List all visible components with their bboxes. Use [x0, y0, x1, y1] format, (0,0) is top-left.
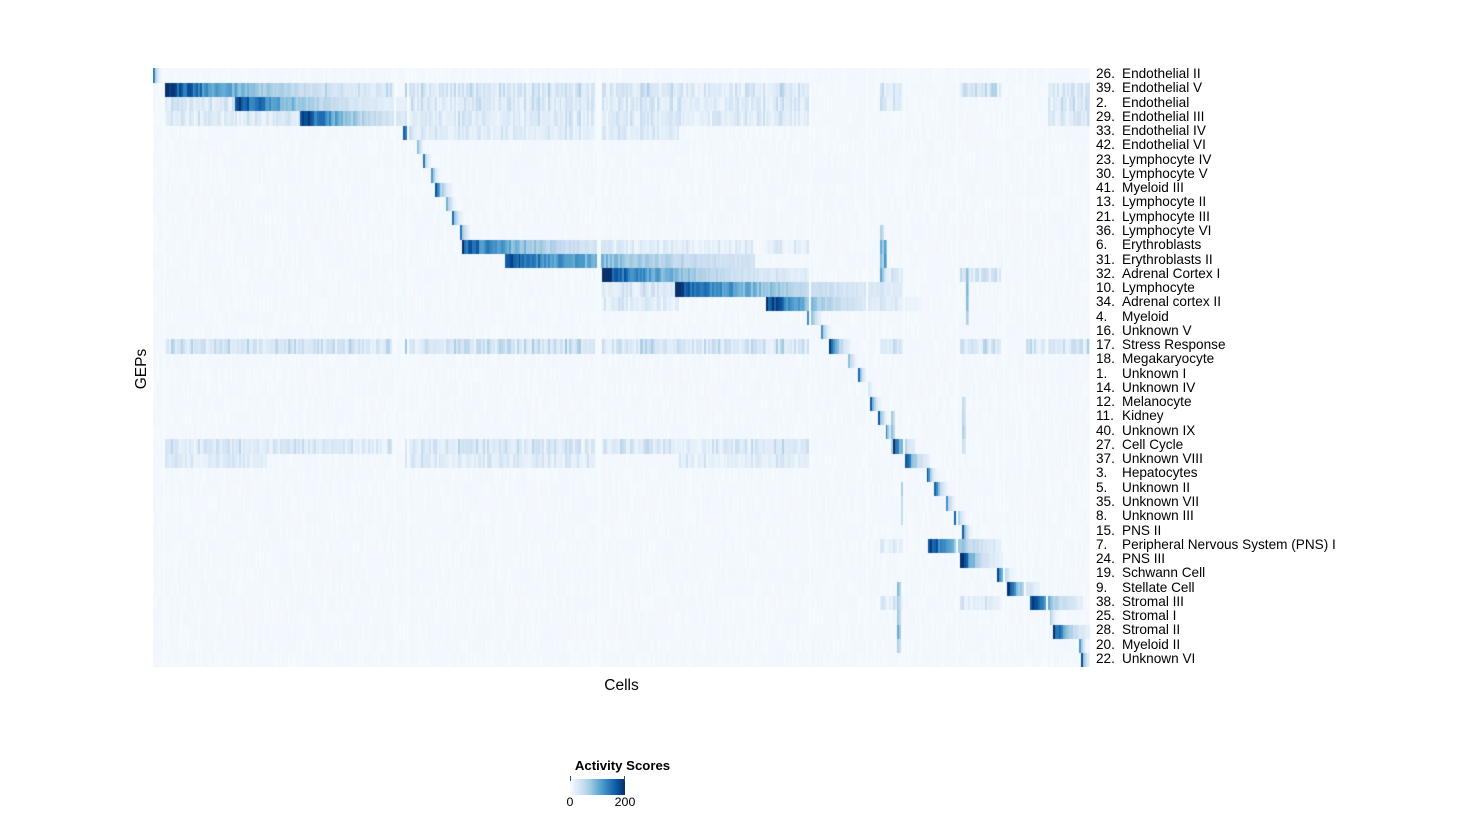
row-label: 3.Hepatocytes	[1096, 466, 1198, 480]
row-label-number: 12.	[1096, 395, 1122, 409]
row-label: 40.Unknown IX	[1096, 424, 1195, 438]
row-label-number: 2.	[1096, 96, 1122, 110]
row-label-number: 34.	[1096, 295, 1122, 309]
row-label: 12.Melanocyte	[1096, 395, 1192, 409]
heatmap-plot-area	[153, 68, 1090, 667]
row-label: 1.Unknown I	[1096, 367, 1186, 381]
row-label: 6.Erythroblasts	[1096, 238, 1201, 252]
row-label-number: 6.	[1096, 238, 1122, 252]
row-label: 18.Megakaryocyte	[1096, 352, 1214, 366]
row-label: 22.Unknown VI	[1096, 652, 1195, 666]
row-label-number: 26.	[1096, 67, 1122, 81]
row-label: 30.Lymphocyte V	[1096, 167, 1208, 181]
row-label-number: 10.	[1096, 281, 1122, 295]
row-label-name: Unknown III	[1122, 508, 1194, 523]
y-axis-label: GEPs	[133, 309, 151, 429]
row-label-name: Unknown I	[1122, 366, 1186, 381]
row-label: 9.Stellate Cell	[1096, 581, 1195, 595]
row-label-name: PNS III	[1122, 551, 1165, 566]
row-label-name: Stromal I	[1122, 608, 1176, 623]
row-label-number: 35.	[1096, 495, 1122, 509]
row-label-number: 40.	[1096, 424, 1122, 438]
row-label-name: Unknown II	[1122, 480, 1190, 495]
row-label-name: Lymphocyte	[1122, 280, 1195, 295]
row-label-name: Unknown VIII	[1122, 451, 1203, 466]
row-label-number: 8.	[1096, 509, 1122, 523]
row-label-number: 36.	[1096, 224, 1122, 238]
row-label: 33.Endothelial IV	[1096, 124, 1206, 138]
row-label-name: Cell Cycle	[1122, 437, 1183, 452]
row-label: 8.Unknown III	[1096, 509, 1194, 523]
row-label: 24.PNS III	[1096, 552, 1165, 566]
row-label-number: 14.	[1096, 381, 1122, 395]
row-label-number: 16.	[1096, 324, 1122, 338]
row-label-name: Lymphocyte VI	[1122, 223, 1211, 238]
row-label: 25.Stromal I	[1096, 609, 1176, 623]
row-label: 20.Myeloid II	[1096, 638, 1180, 652]
heatmap-canvas	[153, 68, 1090, 667]
colorbar-tick	[624, 776, 625, 781]
row-label-number: 13.	[1096, 195, 1122, 209]
row-label-name: Lymphocyte III	[1122, 209, 1210, 224]
row-label-name: Stromal III	[1122, 594, 1184, 609]
row-label: 19.Schwann Cell	[1096, 566, 1205, 580]
row-label: 34.Adrenal cortex II	[1096, 295, 1221, 309]
row-label-name: Lymphocyte IV	[1122, 152, 1211, 167]
row-label-name: Endothelial VI	[1122, 137, 1206, 152]
row-label-number: 1.	[1096, 367, 1122, 381]
row-label-name: Lymphocyte V	[1122, 166, 1208, 181]
row-label-number: 32.	[1096, 267, 1122, 281]
row-label: 11.Kidney	[1096, 409, 1164, 423]
row-label-name: Myeloid	[1122, 309, 1169, 324]
row-label-number: 30.	[1096, 167, 1122, 181]
row-label-name: Melanocyte	[1122, 394, 1192, 409]
colorbar-tick-labels: 0200	[520, 795, 720, 811]
row-label-number: 7.	[1096, 538, 1122, 552]
row-label-name: Hepatocytes	[1122, 465, 1198, 480]
row-label: 4.Myeloid	[1096, 310, 1169, 324]
row-label-list: 26.Endothelial II39.Endothelial V2.Endot…	[1096, 68, 1451, 667]
colorbar-tick	[570, 776, 571, 781]
row-label: 42.Endothelial VI	[1096, 138, 1206, 152]
row-label-name: PNS II	[1122, 523, 1161, 538]
row-label-name: Lymphocyte II	[1122, 194, 1206, 209]
row-label: 27.Cell Cycle	[1096, 438, 1183, 452]
row-label-name: Adrenal Cortex I	[1122, 266, 1220, 281]
row-label: 10.Lymphocyte	[1096, 281, 1195, 295]
colorbar-gradient	[570, 779, 625, 795]
row-label: 26.Endothelial II	[1096, 67, 1201, 81]
row-label: 14.Unknown IV	[1096, 381, 1195, 395]
row-label-name: Endothelial	[1122, 95, 1189, 110]
row-label-name: Unknown IX	[1122, 423, 1195, 438]
row-label-name: Megakaryocyte	[1122, 351, 1214, 366]
row-label-number: 17.	[1096, 338, 1122, 352]
row-label-number: 20.	[1096, 638, 1122, 652]
row-label-number: 18.	[1096, 352, 1122, 366]
row-label-number: 31.	[1096, 253, 1122, 267]
row-label-number: 11.	[1096, 409, 1122, 423]
row-label-number: 38.	[1096, 595, 1122, 609]
row-label: 2.Endothelial	[1096, 96, 1189, 110]
row-label-name: Stellate Cell	[1122, 580, 1195, 595]
row-label: 41.Myeloid III	[1096, 181, 1184, 195]
row-label-number: 15.	[1096, 524, 1122, 538]
row-label-number: 41.	[1096, 181, 1122, 195]
row-label-number: 24.	[1096, 552, 1122, 566]
y-axis-label-wrapper: GEPs	[133, 309, 153, 429]
row-label-name: Adrenal cortex II	[1122, 294, 1221, 309]
row-label-number: 29.	[1096, 110, 1122, 124]
row-label-number: 42.	[1096, 138, 1122, 152]
row-label-number: 21.	[1096, 210, 1122, 224]
row-label-number: 39.	[1096, 81, 1122, 95]
row-label: 17.Stress Response	[1096, 338, 1226, 352]
row-label-number: 22.	[1096, 652, 1122, 666]
row-label: 13.Lymphocyte II	[1096, 195, 1206, 209]
row-label-name: Unknown VII	[1122, 494, 1199, 509]
row-label: 31.Erythroblasts II	[1096, 253, 1213, 267]
row-label: 16.Unknown V	[1096, 324, 1192, 338]
row-label-number: 33.	[1096, 124, 1122, 138]
row-label-name: Endothelial III	[1122, 109, 1204, 124]
row-label: 32.Adrenal Cortex I	[1096, 267, 1220, 281]
row-label-name: Stress Response	[1122, 337, 1226, 352]
row-label-number: 27.	[1096, 438, 1122, 452]
row-label-number: 3.	[1096, 466, 1122, 480]
row-label-name: Unknown VI	[1122, 651, 1195, 666]
row-label: 38.Stromal III	[1096, 595, 1184, 609]
colorbar-legend: Activity Scores 0200	[520, 758, 760, 808]
row-label-name: Unknown V	[1122, 323, 1192, 338]
row-label-number: 4.	[1096, 310, 1122, 324]
row-label: 21.Lymphocyte III	[1096, 210, 1210, 224]
row-label: 15.PNS II	[1096, 524, 1161, 538]
row-label: 39.Endothelial V	[1096, 81, 1202, 95]
row-label-name: Erythroblasts	[1122, 237, 1201, 252]
row-label: 7.Peripheral Nervous System (PNS) I	[1096, 538, 1336, 552]
row-label-name: Peripheral Nervous System (PNS) I	[1122, 537, 1336, 552]
row-label-number: 19.	[1096, 566, 1122, 580]
row-label-name: Stromal II	[1122, 622, 1180, 637]
row-label-name: Unknown IV	[1122, 380, 1195, 395]
row-label-number: 37.	[1096, 452, 1122, 466]
row-label: 29.Endothelial III	[1096, 110, 1204, 124]
colorbar-tick-label: 0	[567, 795, 574, 809]
row-label: 35.Unknown VII	[1096, 495, 1199, 509]
colorbar-ticks	[570, 776, 645, 781]
colorbar-tick-label: 200	[615, 795, 636, 809]
heatmap-figure: GEPs Cells 26.Endothelial II39.Endotheli…	[0, 0, 1457, 815]
row-label: 28.Stromal II	[1096, 623, 1180, 637]
row-label-number: 25.	[1096, 609, 1122, 623]
row-label: 5.Unknown II	[1096, 481, 1190, 495]
row-label-name: Kidney	[1122, 408, 1164, 423]
row-label-number: 23.	[1096, 153, 1122, 167]
row-label-name: Myeloid II	[1122, 637, 1180, 652]
row-label-number: 9.	[1096, 581, 1122, 595]
row-label-name: Endothelial IV	[1122, 123, 1206, 138]
row-label-name: Myeloid III	[1122, 180, 1184, 195]
row-label-number: 5.	[1096, 481, 1122, 495]
row-label-name: Schwann Cell	[1122, 565, 1205, 580]
row-label-name: Erythroblasts II	[1122, 252, 1213, 267]
colorbar-title: Activity Scores	[520, 758, 725, 773]
row-label: 37.Unknown VIII	[1096, 452, 1203, 466]
row-label-name: Endothelial II	[1122, 66, 1201, 81]
row-label-number: 28.	[1096, 623, 1122, 637]
x-axis-label: Cells	[153, 677, 1090, 695]
row-label: 23.Lymphocyte IV	[1096, 153, 1211, 167]
row-label-name: Endothelial V	[1122, 80, 1202, 95]
row-label: 36.Lymphocyte VI	[1096, 224, 1211, 238]
